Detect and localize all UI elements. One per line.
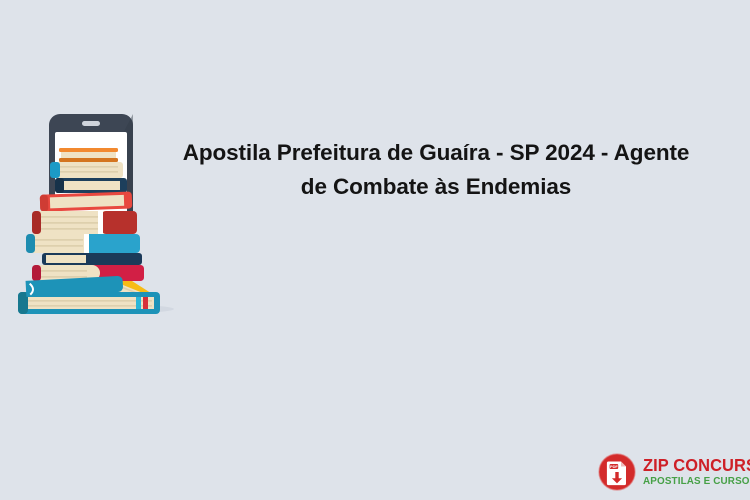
brand-name: ZIP CONCURSOS [643, 457, 750, 475]
promo-card: Apostila Prefeitura de Guaíra - SP 2024 … [0, 0, 750, 500]
brand-tagline: APOSTILAS E CURSOS [643, 477, 750, 487]
svg-text:PDF: PDF [610, 464, 618, 469]
brand-wordmark: ZIP CONCURSOS APOSTILAS E CURSOS [643, 457, 750, 488]
pdf-download-icon: PDF [598, 453, 636, 491]
book-red-upper [40, 192, 133, 212]
book-cyan-large [26, 234, 140, 253]
book-navy-lower [42, 253, 142, 265]
page-title: Apostila Prefeitura de Guaíra - SP 2024 … [172, 136, 700, 204]
book-teal-upper [50, 162, 123, 178]
book-orange-top [59, 148, 118, 162]
book-navy-upper [55, 178, 127, 193]
brand-logo[interactable]: PDF ZIP CONCURSOS APOSTILAS E CURSOS [598, 450, 740, 494]
stack-of-books-icon [10, 108, 180, 320]
book-maroon-large [32, 211, 137, 234]
